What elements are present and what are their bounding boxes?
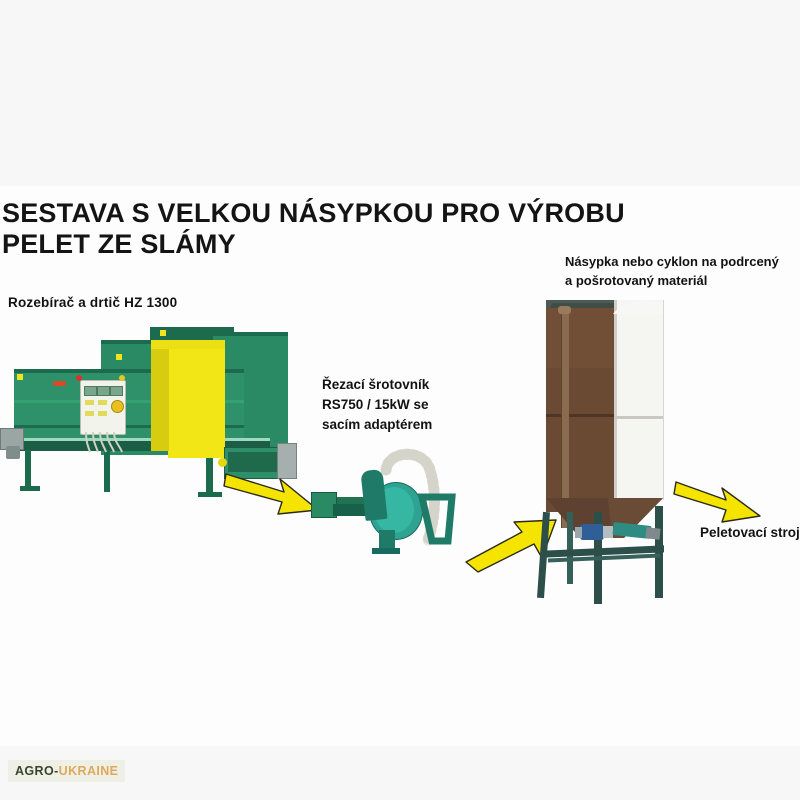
silo-side-corner [614,300,617,500]
silo-top-right-corner [611,298,671,320]
silo-front-panel-highlight [546,308,614,368]
label-grinder-line1: Řezací šrotovník [322,375,432,395]
crusher-leg-left [25,450,31,490]
crusher-control-panel[interactable] [80,380,126,435]
label-silo-line2: a pošrotovaný materiál [565,271,779,290]
silo-screw-motor [580,524,604,540]
control-panel-button-2[interactable] [98,400,107,405]
crusher-leg-mid [104,450,110,492]
silo-side-seam [614,416,663,419]
label-grinder-line2: RS750 / 15kW se [322,395,432,415]
silo-downpipe [561,312,569,528]
control-panel-button-4[interactable] [98,411,107,416]
crusher-marker-1 [17,374,23,380]
control-panel-display-2 [97,386,110,396]
crusher-yellow-hopper-front [168,340,225,458]
crusher-warning-sticker [53,381,66,386]
silo-screw-outlet [645,527,660,539]
control-panel-indicator-yellow [119,375,125,381]
control-panel-display-3 [110,386,123,396]
watermark-part-agro: AGRO- [15,764,59,778]
crusher-conveyor-belt-edge [20,438,270,441]
control-panel-knob[interactable] [111,400,124,413]
control-panel-cables [84,432,144,454]
silo-downpipe-cap [558,306,571,314]
silo-front-seam [546,414,614,417]
crusher-marker-3 [160,330,166,336]
silo-side-panel [614,300,664,500]
diagram-canvas: SESTAVA S VELKOU NÁSYPKOU PRO VÝROBU PEL… [0,0,800,800]
crusher-marker-2 [116,354,122,360]
control-panel-indicator-red [76,375,82,381]
watermark-part-ukraine: UKRAINE [59,764,119,778]
crusher-foot-right [198,492,222,497]
grinder-base-foot [372,548,400,554]
silo-leg-rear-left [567,512,573,584]
silo-cone-hopper [546,498,666,548]
crusher-drive-gearbox [6,446,20,459]
control-panel-display-1 [84,386,97,396]
label-grinder: Řezací šrotovník RS750 / 15kW se sacím a… [322,375,432,435]
silo-motor-flange [575,527,582,538]
crusher-rear-panel-right-edge [213,332,288,336]
page-title: SESTAVA S VELKOU NÁSYPKOU PRO VÝROBU PEL… [2,198,642,260]
label-crusher: Rozebírač a drtič HZ 1300 [8,295,177,310]
label-silo: Násypka nebo cyklon na podrcený a pošrot… [565,252,779,290]
control-panel-button-1[interactable] [85,400,94,405]
label-grinder-line3: sacím adaptérem [322,415,432,435]
silo-motor-coupling [603,526,613,538]
crusher-foot-left [20,486,40,491]
crusher-yellow-hopper-top [151,340,225,349]
watermark-agro-ukraine: AGRO-UKRAINE [8,760,125,782]
control-panel-button-3[interactable] [85,411,94,416]
background-band-top [0,0,800,186]
label-silo-line1: Násypka nebo cyklon na podrcený [565,252,779,271]
crusher-yellow-hopper-side [151,347,169,451]
label-pellet-machine: Peletovací stroj [700,525,800,540]
